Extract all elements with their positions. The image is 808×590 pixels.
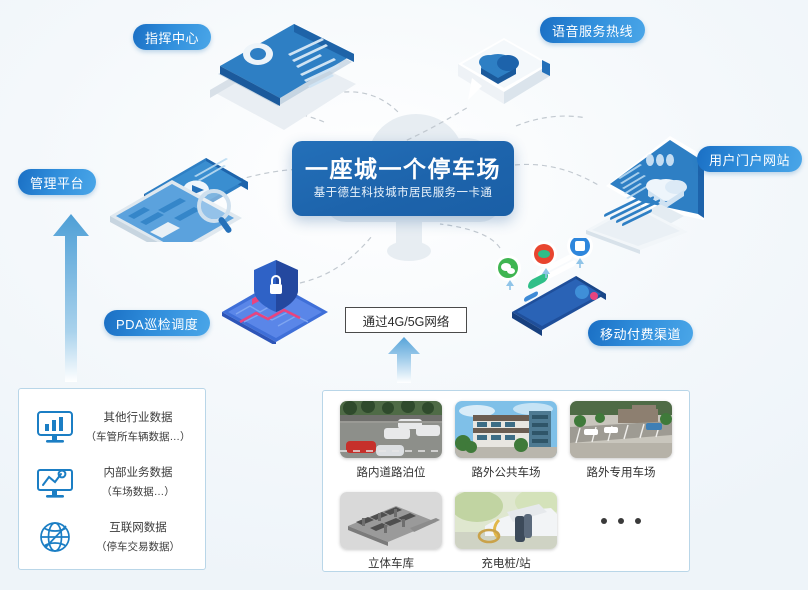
banner-title: 一座城一个停车场 [305,158,501,181]
label-management-platform[interactable]: 管理平台 [18,169,96,195]
scene-row-top: 路内道路泊位 [331,401,681,480]
globe-network-icon [29,519,81,555]
data-row: 其他行业数据 （车管所车辆数据…） [29,399,199,454]
monitor-bar-chart-icon [29,410,81,444]
scene-caption: 立体车库 [340,555,442,571]
data-row-text: 其他行业数据 （车管所车辆数据…） [81,408,199,445]
street-parking-photo [340,401,442,458]
dedicated-parking-lot-photo [570,401,672,458]
network-up-arrow [386,337,422,385]
label-user-portal[interactable]: 用户门户网站 [697,146,802,172]
data-row-title: 互联网数据 [109,522,167,534]
monitor-line-chart-icon [29,465,81,499]
banner-subtitle: 基于德生科技城市居民服务一卡通 [314,188,493,200]
data-row-note: （车管所车辆数据…） [86,431,191,443]
label-voice-hotline[interactable]: 语音服务热线 [540,17,645,43]
label-pda-dispatch[interactable]: PDA巡检调度 [104,310,210,336]
scene-item[interactable]: 路外专用车场 [570,401,672,480]
ev-charging-station-photo [455,492,557,549]
data-row-note: （停车交易数据） [96,541,180,553]
infographic-canvas: 一座城一个停车场 基于德生科技城市居民服务一卡通 [0,0,808,590]
data-row-title: 内部业务数据 [104,467,173,479]
portal-desktop [584,128,716,254]
data-row-title: 其他行业数据 [104,412,173,424]
label-mobile-payment[interactable]: 移动付费渠道 [588,320,693,346]
scene-item[interactable]: 充电桩/站 [455,492,557,571]
scene-item[interactable]: 路外公共车场 [455,401,557,480]
scene-row-bottom: 立体车库 充电 [331,492,681,571]
data-row: 内部业务数据 （车场数据…） [29,454,199,509]
management-laptop [88,132,258,242]
scene-item[interactable]: 立体车库 [340,492,442,571]
data-row-text: 内部业务数据 （车场数据…） [81,463,199,500]
scene-caption: 路外专用车场 [570,464,672,480]
data-row: 互联网数据 （停车交易数据） [29,509,199,564]
multi-level-garage-photo [340,492,442,549]
pda-tablet-shield [216,256,336,344]
central-banner: 一座城一个停车场 基于德生科技城市居民服务一卡通 [292,141,514,216]
scene-caption: 充电桩/站 [455,555,557,571]
scene-item[interactable]: 路内道路泊位 [340,401,442,480]
scene-item-more [570,492,672,571]
public-parking-building-photo [455,401,557,458]
command-center-monitor [196,22,364,142]
scene-caption: 路外公共车场 [455,464,557,480]
scene-caption: 路内道路泊位 [340,464,442,480]
data-row-text: 互联网数据 （停车交易数据） [81,518,199,555]
data-feed-up-arrow [52,214,90,384]
label-command-center[interactable]: 指挥中心 [133,24,211,50]
parking-scenes-panel: 路内道路泊位 [322,390,690,572]
voice-hotline-bubble [446,26,558,122]
data-row-note: （车场数据…） [101,486,175,498]
network-label-box: 通过4G/5G网络 [345,307,467,333]
data-sources-panel: 其他行业数据 （车管所车辆数据…） 内部业务数据 （车场数据…） [18,388,206,570]
ellipsis-dots [570,492,672,549]
